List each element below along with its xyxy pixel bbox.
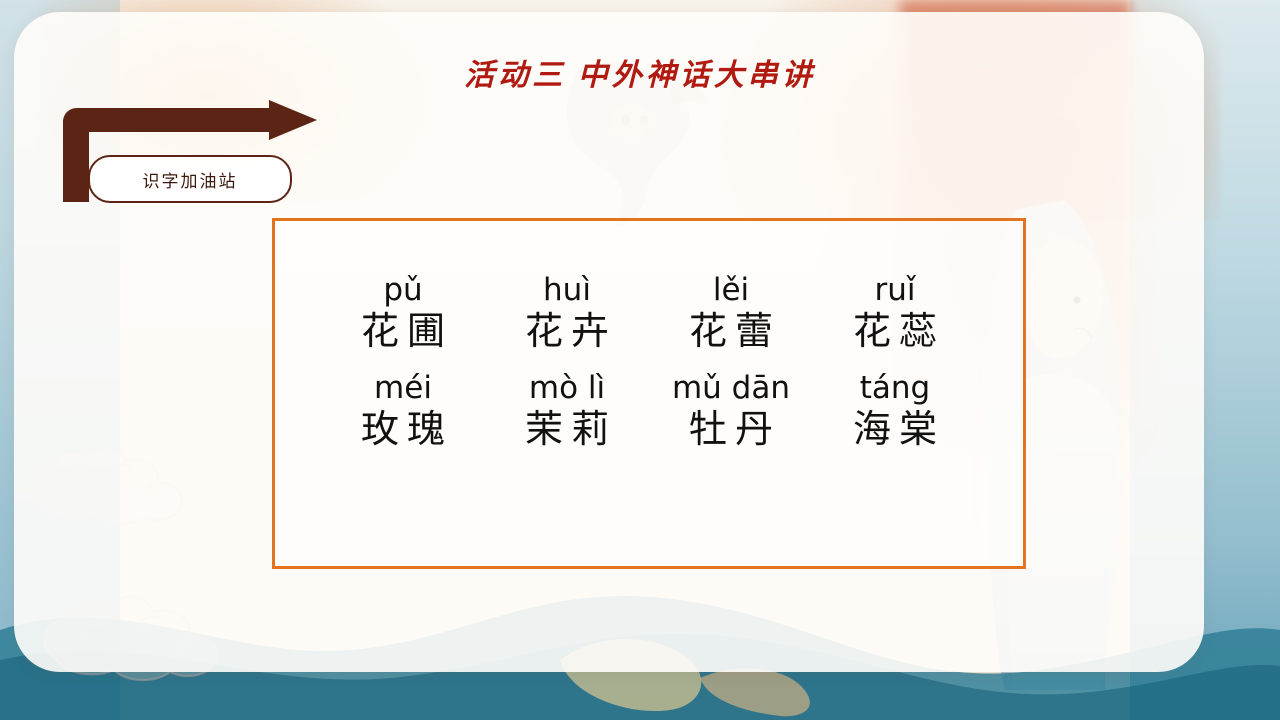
hanzi-cell: 玫瑰: [321, 406, 485, 455]
hanzi-row: 花圃花卉花蕾花蕊: [275, 308, 1023, 357]
hanzi-row: 玫瑰茉莉牡丹海棠: [275, 406, 1023, 455]
section-pill-label: 识字加油站: [143, 167, 238, 192]
hanzi-cell: 海棠: [813, 406, 977, 455]
hanzi-cell: 茉莉: [485, 406, 649, 455]
pinyin-row: pǔhuìlěiruǐ: [275, 273, 1023, 308]
pinyin-cell: huì: [485, 273, 649, 308]
row-spacer: [275, 357, 1023, 371]
vocabulary-grid: pǔhuìlěiruǐ花圃花卉花蕾花蕊méimò lìmǔ dāntáng玫瑰茉…: [275, 273, 1023, 455]
pinyin-cell: ruǐ: [813, 273, 977, 308]
pinyin-cell: lěi: [649, 273, 813, 308]
section-pill: 识字加油站: [88, 155, 292, 203]
hanzi-cell: 牡丹: [649, 406, 813, 455]
pinyin-cell: mò lì: [485, 371, 649, 406]
pinyin-row: méimò lìmǔ dāntáng: [275, 371, 1023, 406]
hanzi-cell: 花卉: [485, 308, 649, 357]
pinyin-cell: mǔ dān: [649, 371, 813, 406]
page-title: 活动三 中外神话大串讲: [0, 50, 1280, 94]
hanzi-cell: 花蕊: [813, 308, 977, 357]
vocabulary-box: pǔhuìlěiruǐ花圃花卉花蕾花蕊méimò lìmǔ dāntáng玫瑰茉…: [272, 218, 1026, 569]
hanzi-cell: 花蕾: [649, 308, 813, 357]
hanzi-cell: 花圃: [321, 308, 485, 357]
slide-canvas: 活动三 中外神话大串讲 识字加油站 pǔhuìlěiruǐ花圃花卉花蕾花蕊méi…: [0, 0, 1280, 720]
pinyin-cell: méi: [321, 371, 485, 406]
pinyin-cell: pǔ: [321, 273, 485, 308]
pinyin-cell: táng: [813, 371, 977, 406]
